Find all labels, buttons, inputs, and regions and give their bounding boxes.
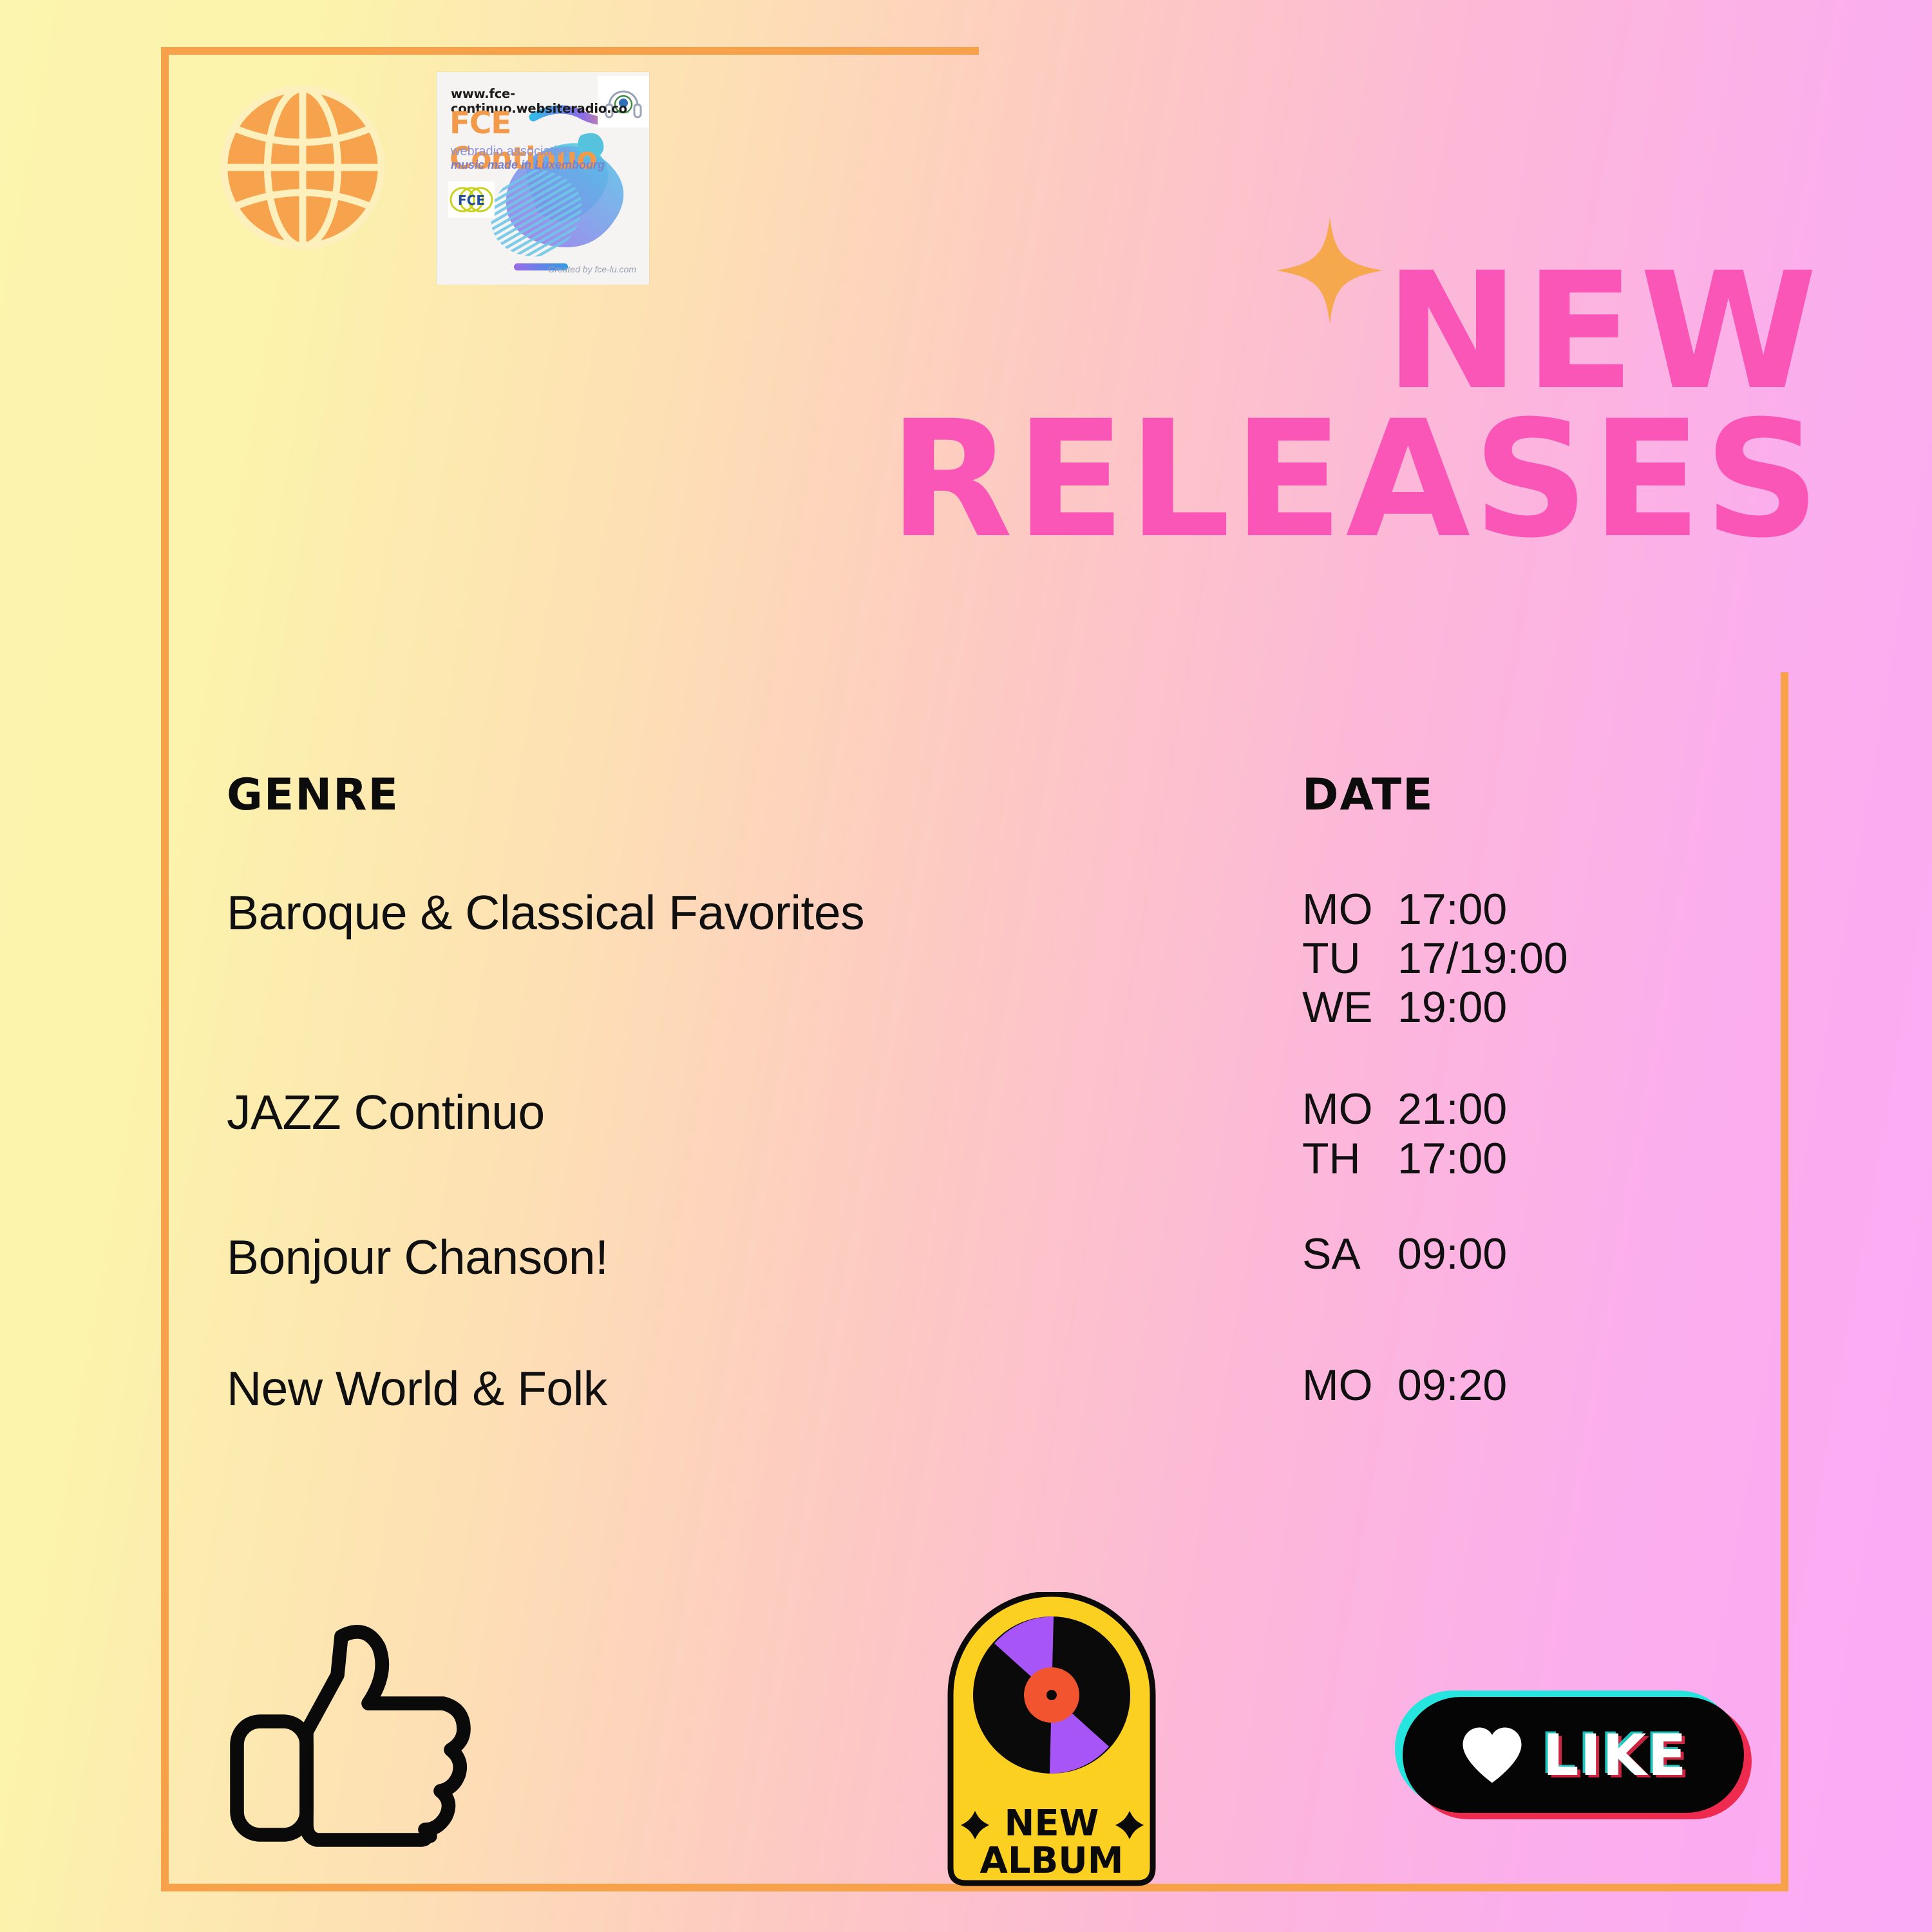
date-day: SA xyxy=(1302,1229,1397,1278)
table-header-row: GENRE DATE xyxy=(227,770,1682,820)
date-time: 17/19:00 xyxy=(1397,934,1568,983)
fce-logo-icon: FCE xyxy=(448,182,495,218)
frame-border-left xyxy=(161,47,169,1891)
column-header-date: DATE xyxy=(1302,770,1434,820)
logo-credit-text: Created by fce-lu.com xyxy=(548,264,636,274)
album-badge-line-1: NEW xyxy=(1005,1803,1099,1844)
thumbs-up-icon[interactable] xyxy=(219,1613,477,1871)
table-row[interactable]: Bonjour Chanson! SA 09:00 xyxy=(227,1229,1682,1285)
releases-table: GENRE DATE Baroque & Classical Favorites… xyxy=(227,770,1682,1416)
fce-continuo-logo-card: fce-lu FCE www.fce-continuo.websiteradio… xyxy=(437,72,649,285)
date-entry: MO 17:00 xyxy=(1302,885,1568,934)
page-title-line-2: RELEASES xyxy=(728,406,1823,554)
date-entry: WE 19:00 xyxy=(1302,983,1568,1032)
date-time: 21:00 xyxy=(1397,1084,1507,1133)
date-time: 19:00 xyxy=(1397,983,1507,1032)
page-title: NEW RELEASES xyxy=(728,258,1823,554)
date-day: MO xyxy=(1302,1361,1397,1410)
page-title-line-1: NEW xyxy=(728,258,1823,406)
date-list: MO 09:20 xyxy=(1302,1361,1507,1410)
date-list: SA 09:00 xyxy=(1302,1229,1507,1278)
logo-tagline-2: music made in Luxembourg xyxy=(451,158,605,172)
genre-label: Bonjour Chanson! xyxy=(227,1229,1302,1285)
genre-label: New World & Folk xyxy=(227,1361,1302,1416)
table-row[interactable]: JAZZ Continuo MO 21:00 TH 17:00 xyxy=(227,1084,1682,1182)
globe-icon xyxy=(219,84,386,251)
column-header-genre: GENRE xyxy=(227,770,1302,820)
date-day: MO xyxy=(1302,1084,1397,1133)
genre-label: Baroque & Classical Favorites xyxy=(227,885,1302,940)
date-time: 09:20 xyxy=(1397,1361,1507,1410)
date-list: MO 21:00 TH 17:00 xyxy=(1302,1084,1507,1182)
date-list: MO 17:00 TU 17/19:00 WE 19:00 xyxy=(1302,885,1568,1032)
album-badge-line-2: ALBUM xyxy=(980,1840,1124,1882)
svg-text:FCE: FCE xyxy=(458,193,485,208)
date-entry: SA 09:00 xyxy=(1302,1229,1507,1278)
table-row[interactable]: New World & Folk MO 09:20 xyxy=(227,1361,1682,1416)
like-button[interactable]: LIKE xyxy=(1403,1697,1744,1813)
like-button-label: LIKE xyxy=(1542,1722,1687,1788)
table-row[interactable]: Baroque & Classical Favorites MO 17:00 T… xyxy=(227,885,1682,1032)
date-entry: MO 09:20 xyxy=(1302,1361,1507,1410)
frame-border-top xyxy=(161,47,979,55)
date-entry: TH 17:00 xyxy=(1302,1134,1507,1183)
new-album-badge[interactable]: NEW ALBUM xyxy=(945,1592,1158,1888)
heart-icon xyxy=(1459,1724,1526,1786)
logo-tagline-1: webradio associative xyxy=(451,144,571,159)
frame-border-right xyxy=(1781,672,1788,1891)
date-time: 09:00 xyxy=(1397,1229,1507,1278)
date-time: 17:00 xyxy=(1397,1134,1507,1183)
date-entry: MO 21:00 xyxy=(1302,1084,1507,1133)
date-day: MO xyxy=(1302,885,1397,934)
date-day: TU xyxy=(1302,934,1397,983)
date-time: 17:00 xyxy=(1397,885,1507,934)
date-entry: TU 17/19:00 xyxy=(1302,934,1568,983)
date-day: WE xyxy=(1302,983,1397,1032)
like-button-body[interactable]: LIKE xyxy=(1403,1697,1744,1813)
genre-label: JAZZ Continuo xyxy=(227,1084,1302,1140)
date-day: TH xyxy=(1302,1134,1397,1183)
